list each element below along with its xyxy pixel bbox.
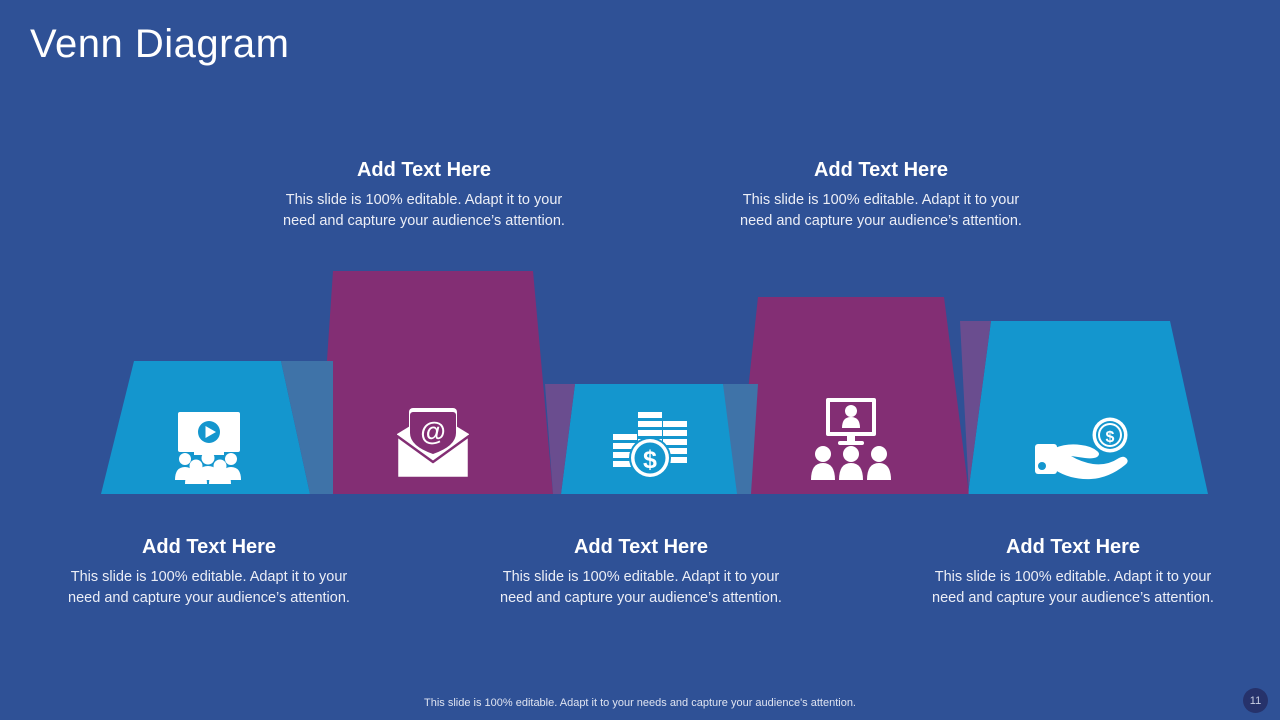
text-block-top-2-body: This slide is 100% editable. Adapt it to… <box>740 190 1022 232</box>
page-number-badge: 11 <box>1243 688 1268 713</box>
text-block-top-1-heading: Add Text Here <box>283 158 565 182</box>
text-block-bottom-1: Add Text Here This slide is 100% editabl… <box>68 535 350 609</box>
text-block-bottom-2: Add Text Here This slide is 100% editabl… <box>500 535 782 609</box>
footer-note: This slide is 100% editable. Adapt it to… <box>0 697 1280 710</box>
email-at-icon: @ <box>393 406 473 482</box>
text-block-top-2-heading: Add Text Here <box>740 158 1022 182</box>
text-block-bottom-2-body: This slide is 100% editable. Adapt it to… <box>500 567 782 609</box>
text-block-bottom-2-heading: Add Text Here <box>500 535 782 559</box>
text-block-bottom-3-heading: Add Text Here <box>932 535 1214 559</box>
slide-canvas: Venn Diagram <box>0 0 1280 720</box>
svg-text:$: $ <box>643 446 657 474</box>
venn-shape-group <box>0 0 1280 720</box>
money-stack-icon: $ <box>609 406 691 482</box>
text-block-bottom-3-body: This slide is 100% editable. Adapt it to… <box>932 567 1214 609</box>
text-block-bottom-1-body: This slide is 100% editable. Adapt it to… <box>68 567 350 609</box>
video-presentation-icon <box>169 404 249 484</box>
svg-text:@: @ <box>420 416 445 446</box>
svg-text:$: $ <box>1106 429 1115 446</box>
text-block-top-1-body: This slide is 100% editable. Adapt it to… <box>283 190 565 232</box>
text-block-top-2: Add Text Here This slide is 100% editabl… <box>740 158 1022 232</box>
video-conference-icon <box>809 396 893 482</box>
text-block-top-1: Add Text Here This slide is 100% editabl… <box>283 158 565 232</box>
text-block-bottom-3: Add Text Here This slide is 100% editabl… <box>932 535 1214 609</box>
text-block-bottom-1-heading: Add Text Here <box>68 535 350 559</box>
hand-coin-icon: $ <box>1031 414 1135 484</box>
